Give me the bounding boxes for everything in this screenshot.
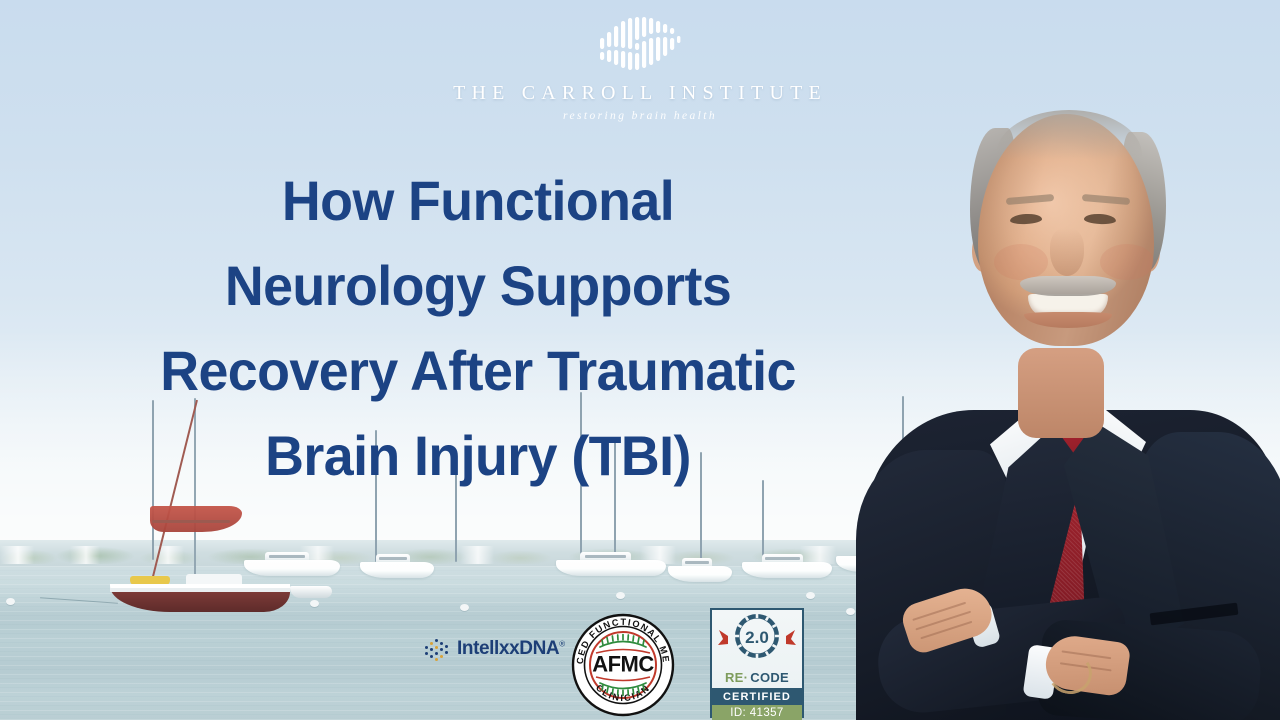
mooring-buoy — [6, 598, 15, 605]
slide-canvas: THE CARROLL INSTITUTE restoring brain he… — [0, 0, 1280, 720]
recode-seal: 2.0 — [712, 610, 802, 666]
intellxx-trademark: ® — [559, 640, 565, 649]
badge-recode: 2.0 RE·CODE CERTIFIED ID: 41357 — [710, 608, 804, 718]
intellxx-wordmark: IntellxxDNA® — [457, 638, 565, 660]
recode-re: RE· — [725, 670, 748, 685]
brand-name: THE CARROLL INSTITUTE — [0, 82, 1280, 105]
intellxx-dots-icon — [424, 636, 450, 662]
recode-code: CODE — [750, 670, 789, 685]
title-line-1: How Functional — [65, 158, 891, 243]
mooring-buoy — [616, 592, 625, 599]
mustache — [1020, 276, 1116, 296]
title-line-2: Neurology Supports — [65, 243, 891, 328]
mooring-buoy — [806, 592, 815, 599]
intellxx-name: IntellxxDNA — [457, 638, 559, 659]
recode-wordmark: RE·CODE — [712, 666, 802, 688]
badge-afmc: ADVANCED FUNCTIONAL MEDICINE CLINICIAN — [570, 612, 676, 718]
cheek-right — [1100, 244, 1154, 280]
title-line-4: Brain Injury (TBI) — [65, 413, 891, 498]
recode-certified-bar: CERTIFIED — [712, 688, 802, 705]
mooring-buoy — [310, 600, 319, 607]
badge-intellxxdna: IntellxxDNA® — [424, 636, 565, 662]
afmc-acronym: AFMC — [592, 652, 654, 677]
cheek-left — [994, 244, 1048, 280]
brand-logo: THE CARROLL INSTITUTE restoring brain he… — [0, 12, 1280, 122]
brain-bars-icon — [598, 12, 682, 74]
neck — [1018, 348, 1104, 438]
nose — [1050, 228, 1084, 276]
recode-id-bar: ID: 41357 — [712, 705, 802, 720]
title-line-3: Recovery After Traumatic — [65, 328, 891, 413]
page-title: How Functional Neurology Supports Recove… — [65, 158, 891, 498]
certification-badges: IntellxxDNA® ADVANCED FUNCTIONAL MEDICIN… — [410, 608, 830, 720]
brand-tagline: restoring brain health — [0, 110, 1280, 122]
portrait-presenter — [850, 80, 1280, 720]
recode-version: 2.0 — [745, 628, 769, 647]
